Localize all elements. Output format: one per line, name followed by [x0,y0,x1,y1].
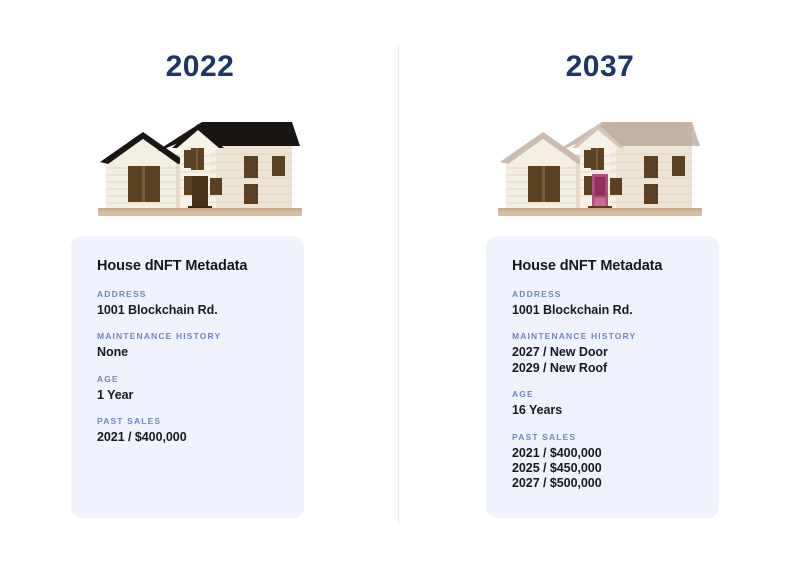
house-illustration-renovated-svg [492,108,709,220]
field-value: None [97,345,280,360]
field-value-line: 2027 / New Door [512,345,695,360]
field-value-line: 16 Years [512,403,695,418]
field-age: AGE 1 Year [97,374,280,403]
field-maintenance-history: MAINTENANCE HISTORY 2027 / New Door 2029… [512,331,695,376]
field-past-sales: PAST SALES 2021 / $400,000 2025 / $450,0… [512,432,695,492]
field-value-line: 2025 / $450,000 [512,461,695,476]
field-value-line: 2029 / New Roof [512,361,695,376]
house-illustration-old-svg [92,108,309,220]
field-value-line: 1 Year [97,388,280,403]
panel-2022: 2022 [0,0,400,573]
metadata-card-right: House dNFT Metadata ADDRESS 1001 Blockch… [486,236,719,518]
field-value-line: 2021 / $400,000 [512,446,695,461]
field-value: 2021 / $400,000 2025 / $450,000 2027 / $… [512,446,695,492]
field-value-line: 1001 Blockchain Rd. [97,303,280,318]
year-heading-left: 2022 [0,50,400,84]
field-value: 16 Years [512,403,695,418]
field-value-line: None [97,345,280,360]
field-value-line: 2027 / $500,000 [512,476,695,491]
field-value: 1 Year [97,388,280,403]
field-label: PAST SALES [512,432,695,442]
field-address: ADDRESS 1001 Blockchain Rd. [512,289,695,318]
panel-2037: 2037 [400,0,800,573]
field-value: 2027 / New Door 2029 / New Roof [512,345,695,376]
field-value-line: 2021 / $400,000 [97,430,280,445]
field-value: 1001 Blockchain Rd. [512,303,695,318]
field-value-line: 1001 Blockchain Rd. [512,303,695,318]
field-label: MAINTENANCE HISTORY [512,331,695,341]
year-heading-right: 2037 [400,50,800,84]
house-illustration-left [0,104,400,220]
field-label: ADDRESS [512,289,695,299]
field-age: AGE 16 Years [512,389,695,418]
metadata-card-left: House dNFT Metadata ADDRESS 1001 Blockch… [71,236,304,518]
field-past-sales: PAST SALES 2021 / $400,000 [97,416,280,445]
field-label: ADDRESS [97,289,280,299]
house-illustration-right [400,104,800,220]
field-address: ADDRESS 1001 Blockchain Rd. [97,289,280,318]
comparison-stage: 2022 [0,0,800,573]
card-title: House dNFT Metadata [97,258,280,274]
field-maintenance-history: MAINTENANCE HISTORY None [97,331,280,360]
field-label: MAINTENANCE HISTORY [97,331,280,341]
field-label: PAST SALES [97,416,280,426]
field-label: AGE [97,374,280,384]
card-title: House dNFT Metadata [512,258,695,274]
field-value: 1001 Blockchain Rd. [97,303,280,318]
field-value: 2021 / $400,000 [97,430,280,445]
field-label: AGE [512,389,695,399]
